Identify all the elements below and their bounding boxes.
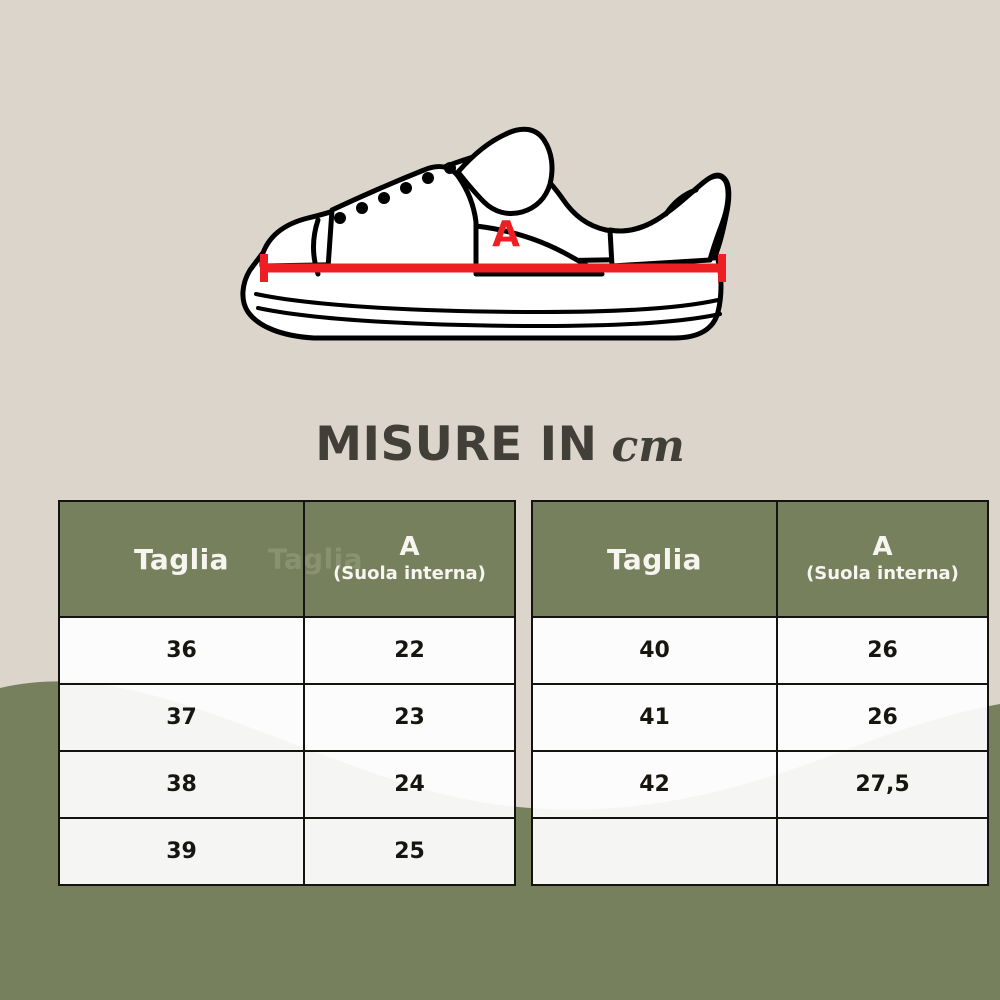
table-header-row-left: Taglia Taglia A (Suola interna) — [60, 502, 514, 618]
table-header-row-right: Taglia A (Suola interna) — [533, 502, 987, 618]
cell-measure: 24 — [305, 752, 514, 817]
cell-measure-empty — [778, 819, 987, 884]
table-row: 38 24 — [60, 752, 514, 819]
table-row — [533, 819, 987, 884]
table-header-cell-size-left: Taglia — [60, 502, 305, 616]
eyelet-2 — [356, 202, 368, 214]
sneaker-vamp-panel — [328, 167, 476, 268]
cell-measure: 26 — [778, 685, 987, 750]
page-title: MISURE IN cm — [0, 408, 1000, 480]
table-row: 40 26 — [533, 618, 987, 685]
cell-size: 40 — [533, 618, 778, 683]
cell-size: 38 — [60, 752, 305, 817]
cell-measure: 22 — [305, 618, 514, 683]
cell-size: 42 — [533, 752, 778, 817]
cell-size: 41 — [533, 685, 778, 750]
table-header-sub-insole-right: (Suola interna) — [806, 564, 959, 585]
table-header-label-size-left: Taglia — [134, 543, 229, 576]
size-table-right: Taglia A (Suola interna) 40 26 41 26 42 … — [531, 500, 989, 886]
table-row: 39 25 — [60, 819, 514, 884]
cell-measure: 27,5 — [778, 752, 987, 817]
sneaker-illustration: A — [222, 98, 762, 350]
eyelet-4 — [400, 182, 412, 194]
cell-size-empty — [533, 819, 778, 884]
eyelet-3 — [378, 192, 390, 204]
table-row: 36 22 — [60, 618, 514, 685]
sneaker-heel-counter — [610, 176, 728, 266]
cell-size: 36 — [60, 618, 305, 683]
table-body-right: 40 26 41 26 42 27,5 — [533, 618, 987, 884]
cell-size: 39 — [60, 819, 305, 884]
size-table-left: Taglia Taglia A (Suola interna) 36 22 37… — [58, 500, 516, 886]
cell-measure: 25 — [305, 819, 514, 884]
cell-measure: 23 — [305, 685, 514, 750]
table-row: 37 23 — [60, 685, 514, 752]
table-header-cell-measure-left: A (Suola interna) — [305, 502, 514, 616]
table-header-letter-a-left: A — [399, 534, 419, 561]
page-title-unit: cm — [611, 425, 684, 469]
table-header-sub-insole-left: (Suola interna) — [333, 564, 486, 585]
page-title-main: MISURE IN — [315, 421, 597, 468]
eyelet-5 — [422, 172, 434, 184]
sneaker-body-group — [243, 129, 729, 338]
table-header-label-size-right: Taglia — [607, 543, 702, 576]
table-header-cell-size-right: Taglia — [533, 502, 778, 616]
cell-measure: 26 — [778, 618, 987, 683]
size-chart-canvas: A MISURE IN cm Taglia Taglia A (Suola in… — [0, 0, 1000, 1000]
table-row: 41 26 — [533, 685, 987, 752]
table-header-letter-a-right: A — [872, 534, 892, 561]
table-header-cell-measure-right: A (Suola interna) — [778, 502, 987, 616]
sneaker-svg: A — [222, 98, 762, 350]
eyelet-6 — [444, 162, 456, 174]
measurement-label-a: A — [492, 214, 520, 255]
eyelet-1 — [334, 212, 346, 224]
cell-size: 37 — [60, 685, 305, 750]
table-row: 42 27,5 — [533, 752, 987, 819]
table-body-left: 36 22 37 23 38 24 39 25 — [60, 618, 514, 884]
